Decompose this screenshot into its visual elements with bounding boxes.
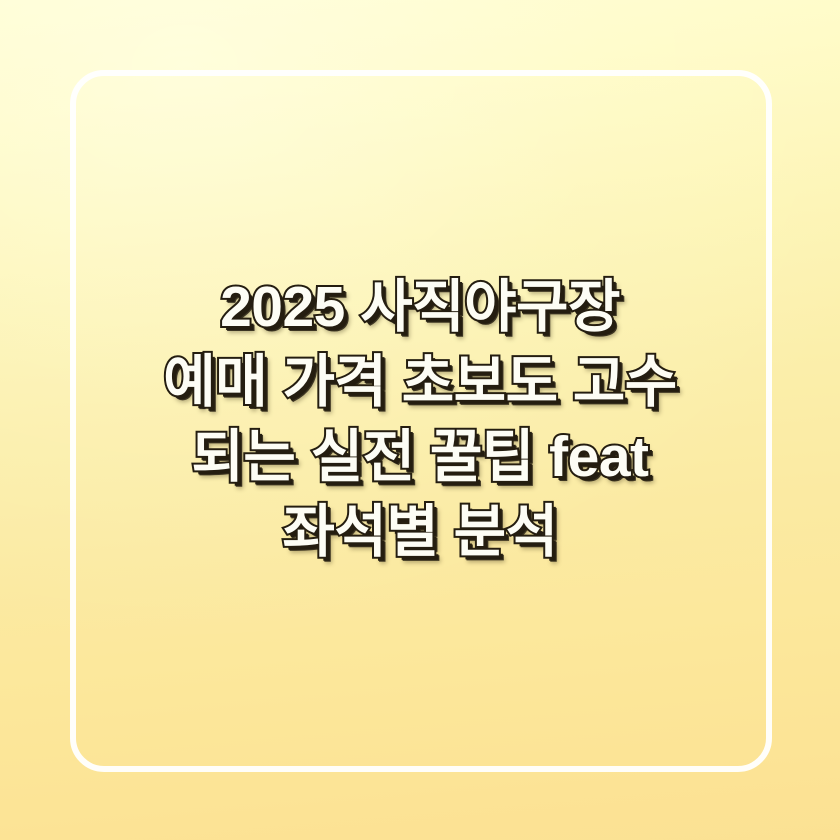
title-block: 2025 사직야구장 예매 가격 초보도 고수 되는 실전 꿀팁 feat 좌석… xyxy=(0,0,840,840)
title-line-4: 좌석별 분석 xyxy=(86,495,754,570)
poster-canvas: 2025 사직야구장 예매 가격 초보도 고수 되는 실전 꿀팁 feat 좌석… xyxy=(0,0,840,840)
title-line-1: 2025 사직야구장 xyxy=(86,270,754,345)
title-line-2: 예매 가격 초보도 고수 xyxy=(86,345,754,420)
title-line-3: 되는 실전 꿀팁 feat xyxy=(86,420,754,495)
